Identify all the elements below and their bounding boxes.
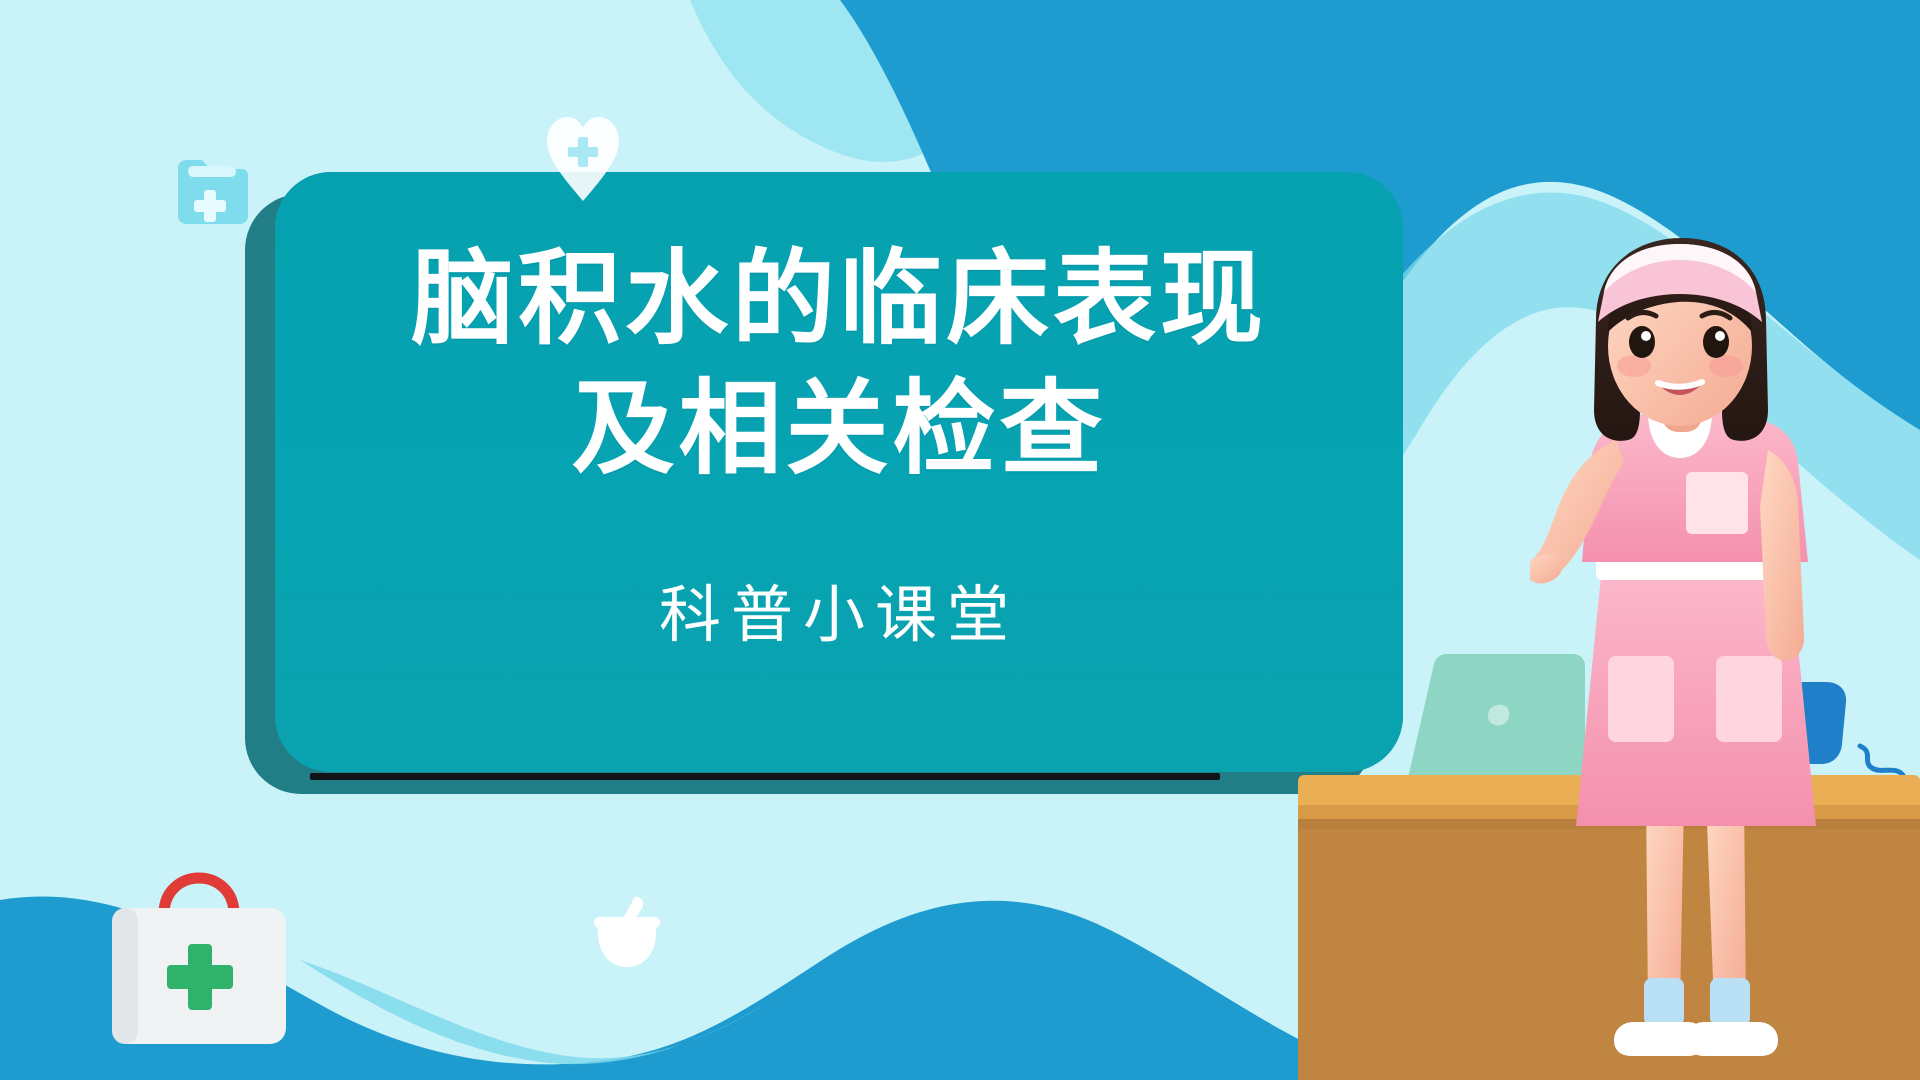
medical-record-plus-icon (170, 150, 250, 230)
mortar-pestle-icon (592, 895, 662, 975)
page-title-line-2: 及相关检查 (275, 364, 1403, 494)
heart-plus-icon (545, 115, 621, 201)
page-subtitle: 科普小课堂 (275, 564, 1403, 654)
title-block: 脑积水的临床表现 及相关检查 (275, 234, 1403, 494)
title-card: 脑积水的临床表现 及相关检查 科普小课堂 (275, 172, 1403, 772)
first-aid-kit-icon (104, 872, 294, 1050)
page-title-line-1: 脑积水的临床表现 (275, 234, 1403, 364)
nurse-illustration (1530, 236, 1860, 1080)
title-underline-rule (310, 773, 1220, 780)
slide-canvas: 脑积水的临床表现 及相关检查 科普小课堂 (0, 0, 1920, 1080)
